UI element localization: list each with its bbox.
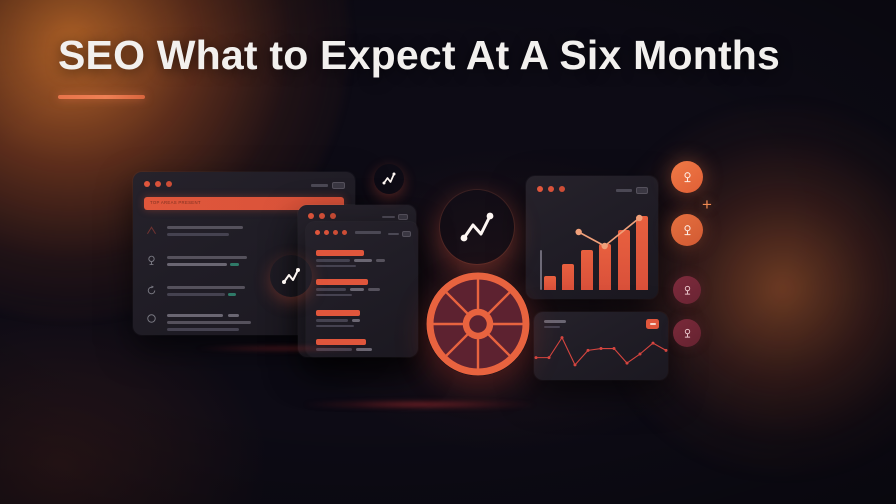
- text-line: [316, 265, 356, 268]
- text-line: [376, 259, 385, 262]
- window-header-actions[interactable]: [388, 231, 411, 237]
- person-icon: [680, 170, 695, 185]
- text-line: [167, 256, 247, 259]
- window-dot-minimize[interactable]: [548, 186, 554, 192]
- bar-chart-window[interactable]: [526, 176, 658, 299]
- header-line-icon: [388, 233, 399, 236]
- add-person-icon[interactable]: +: [702, 196, 712, 213]
- highlight-line: [228, 293, 236, 296]
- window-controls[interactable]: [315, 230, 381, 235]
- line-chart-window[interactable]: [534, 312, 668, 380]
- text-line: [354, 259, 372, 262]
- result-title: [316, 250, 364, 256]
- list-item-lines: [167, 224, 243, 236]
- list-item-lines: [167, 312, 251, 331]
- list-item[interactable]: [316, 250, 385, 267]
- result-meta: [316, 288, 380, 291]
- window-dot-close[interactable]: [315, 230, 320, 235]
- trend-line-icon: [279, 264, 303, 288]
- line-marker-8: [639, 353, 642, 356]
- page-title: SEO What to Expect At A Six Months: [58, 32, 780, 79]
- line-marker-5: [600, 347, 603, 350]
- list-item[interactable]: [145, 312, 251, 331]
- list-item[interactable]: [145, 224, 243, 237]
- glow-streak-2: [195, 345, 370, 352]
- trend-marker-1: [601, 243, 607, 249]
- avatar-2[interactable]: [671, 214, 703, 246]
- header-box-icon[interactable]: [398, 214, 408, 220]
- window-header-actions[interactable]: [382, 214, 408, 220]
- result-title: [316, 310, 360, 316]
- text-line: [167, 226, 243, 229]
- window-dot-maximize[interactable]: [333, 230, 338, 235]
- text-line: [167, 314, 223, 317]
- header-box-icon[interactable]: [636, 187, 648, 194]
- trend-marker-0: [575, 229, 581, 235]
- window-dot-maximize[interactable]: [166, 181, 172, 187]
- activity-line: [536, 338, 666, 365]
- text-line-group: [167, 263, 247, 266]
- list-item-lines: [167, 284, 245, 296]
- text-line: [316, 259, 350, 262]
- window-header-lines: [544, 320, 566, 328]
- line-marker-9: [652, 342, 655, 345]
- line-marker-7: [626, 362, 629, 365]
- header-box-icon[interactable]: [332, 182, 345, 189]
- line-marker-0: [535, 356, 538, 359]
- window-dot-close[interactable]: [308, 213, 314, 219]
- circle-icon: [145, 312, 158, 325]
- location-pin-icon: [145, 254, 158, 267]
- text-line: [167, 328, 239, 331]
- search-input-value: TOP AREAS PRESENT: [150, 200, 201, 205]
- line-marker-6: [613, 347, 616, 350]
- trend-line-icon-medium[interactable]: [270, 255, 312, 297]
- header-box-icon[interactable]: [402, 231, 411, 237]
- window-controls[interactable]: [308, 213, 336, 219]
- trend-line-icon-small[interactable]: [374, 164, 404, 194]
- text-line-group: [167, 293, 245, 296]
- line-marker-10: [665, 349, 668, 352]
- line-marker-3: [574, 363, 577, 366]
- text-line: [228, 314, 239, 317]
- text-line: [544, 320, 566, 323]
- glow-streak: [305, 400, 535, 409]
- text-line: [352, 319, 360, 322]
- text-line: [316, 288, 346, 291]
- trend-marker-2: [636, 215, 642, 221]
- highlight-line: [230, 263, 239, 266]
- avatar-3[interactable]: [673, 276, 701, 304]
- line-chart-plot: [536, 332, 666, 376]
- title-block: SEO What to Expect At A Six Months: [58, 32, 780, 99]
- text-line: [316, 319, 348, 322]
- window-dot-minimize[interactable]: [324, 230, 329, 235]
- header-line-icon: [311, 184, 328, 187]
- line-marker-1: [548, 356, 551, 359]
- text-line: [544, 326, 560, 329]
- avatar-1[interactable]: [671, 161, 703, 193]
- text-line: [316, 325, 354, 328]
- header-line-icon: [382, 216, 395, 219]
- window-header-actions[interactable]: [616, 187, 648, 194]
- window-dot-maximize[interactable]: [559, 186, 565, 192]
- text-line: [167, 263, 227, 266]
- window-dot-close[interactable]: [537, 186, 543, 192]
- text-line: [350, 288, 364, 291]
- person-icon: [681, 284, 694, 297]
- text-line: [167, 321, 251, 324]
- list-item[interactable]: [145, 284, 245, 297]
- window-controls[interactable]: [144, 181, 172, 187]
- trend-line-icon-large[interactable]: [440, 190, 514, 264]
- trend-overlay: [540, 208, 648, 290]
- window-controls[interactable]: [537, 186, 565, 192]
- result-meta: [316, 319, 360, 322]
- window-dot-extra[interactable]: [342, 230, 347, 235]
- menu-badge[interactable]: [646, 319, 659, 329]
- list-item[interactable]: [316, 310, 360, 327]
- header-divider: [355, 231, 381, 234]
- person-icon: [680, 223, 695, 238]
- window-header-actions[interactable]: [311, 182, 345, 189]
- result-title: [316, 279, 368, 285]
- window-dot-maximize[interactable]: [330, 213, 336, 219]
- list-item-lines: [167, 254, 247, 266]
- text-line-group: [167, 314, 251, 317]
- poster-canvas: SEO What to Expect At A Six Months TOP A…: [0, 0, 896, 504]
- header-line-icon: [616, 189, 632, 192]
- line-marker-2: [561, 336, 564, 339]
- window-dot-minimize[interactable]: [319, 213, 325, 219]
- badge-line-icon: [650, 323, 656, 325]
- trend-line: [579, 218, 640, 246]
- refresh-icon: [145, 284, 158, 297]
- text-line: [167, 286, 245, 289]
- result-meta: [316, 259, 385, 262]
- text-line: [167, 233, 229, 236]
- pie-wheel-chart[interactable]: [426, 272, 530, 376]
- avatar-4[interactable]: [673, 319, 701, 347]
- title-underline: [58, 95, 145, 99]
- trend-line-icon: [455, 205, 499, 249]
- list-item[interactable]: [316, 279, 380, 296]
- line-marker-4: [587, 349, 590, 352]
- text-line: [316, 294, 352, 297]
- trend-line-icon: [380, 170, 398, 188]
- window-dot-close[interactable]: [144, 181, 150, 187]
- list-item[interactable]: [145, 254, 247, 267]
- bar-chart-plot: [540, 208, 648, 290]
- text-line: [368, 288, 380, 291]
- window-dot-minimize[interactable]: [155, 181, 161, 187]
- chevron-up-icon: [145, 224, 158, 237]
- person-icon: [681, 327, 694, 340]
- search-results-window[interactable]: [306, 222, 418, 357]
- text-line: [167, 293, 225, 296]
